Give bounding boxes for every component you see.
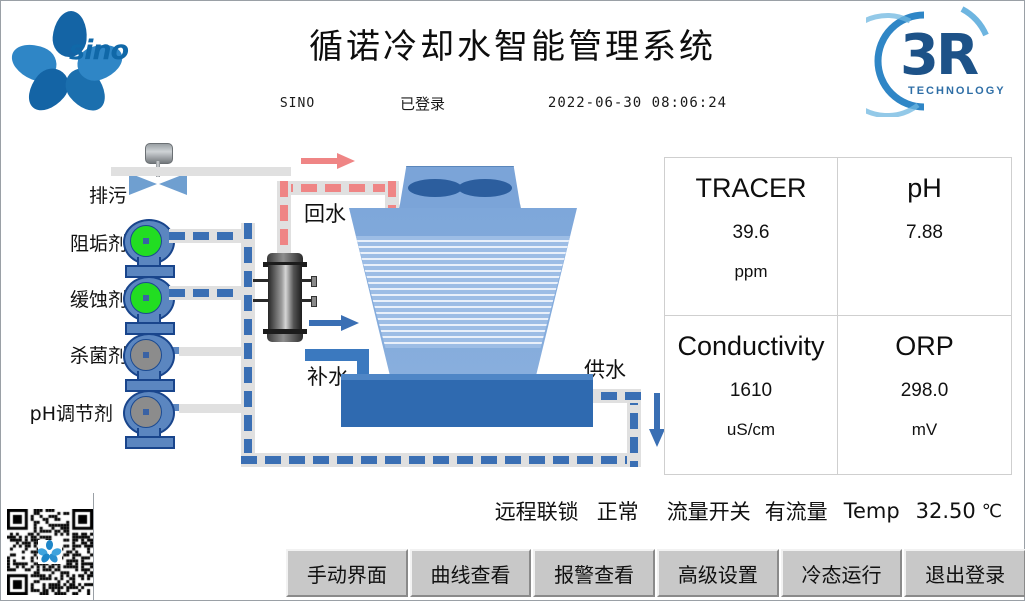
fan-blade [408, 179, 462, 197]
3r-technology-logo: 3R TECHNOLOGY [866, 5, 1016, 117]
measurement-value: 298.0 [901, 380, 949, 402]
qr-code-icon [7, 509, 93, 595]
fan-blade [458, 179, 512, 197]
button-manual-interface[interactable]: 手动界面 [286, 549, 408, 597]
hx-nozzle-left-upper [253, 279, 269, 282]
hx-foot [267, 334, 303, 342]
sino-logo: sino [9, 9, 159, 109]
pump-status-indicator [130, 396, 162, 428]
measurement-value: 1610 [730, 380, 772, 402]
divider [93, 493, 94, 601]
measurement-cell-orp[interactable]: ORP 298.0 mV [838, 316, 1011, 474]
dosing-pump-biocide[interactable] [123, 333, 181, 389]
pump-status-indicator [130, 282, 162, 314]
temp-unit: ℃ [982, 501, 1002, 522]
pump-base [125, 436, 175, 449]
dosing-pump-ph-adjuster[interactable] [123, 390, 181, 446]
measurement-cell-tracer[interactable]: TRACER 39.6 ppm [665, 158, 838, 316]
remote-interlock-label: 远程联锁 [495, 496, 579, 526]
ph-feed-pipe [179, 404, 241, 413]
hx-flange-upper [311, 276, 317, 287]
measurement-cell-conductivity[interactable]: Conductivity 1610 uS/cm [665, 316, 838, 474]
pump-status-indicator [130, 339, 162, 371]
valve-body-left [129, 173, 157, 195]
login-status: 已登录 [358, 93, 488, 114]
3r-wordmark: 3R [900, 23, 976, 88]
hmi-screen: 循诺冷却水智能管理系统 SINO 已登录 2022-06-30 08:06:24… [0, 0, 1025, 601]
biocide-feed-pipe [179, 347, 241, 356]
sidebar-item-label-antiscalant: 阻垢剂 [7, 229, 127, 256]
remote-interlock-value: 正常 [597, 496, 639, 526]
measurement-name: Conductivity [677, 330, 824, 364]
supply-water-pipe-left [241, 223, 255, 465]
cooling-tower-fan-icon [399, 166, 521, 210]
antiscalant-feed-pipe [169, 229, 249, 243]
current-user: SINO [238, 96, 358, 111]
button-logout[interactable]: 退出登录 [904, 549, 1025, 597]
cooling-tower [341, 166, 621, 421]
flow-switch-value: 有流量 [765, 496, 828, 526]
3r-tagline: TECHNOLOGY [908, 85, 1006, 97]
supply-water-pipe-bottom [241, 453, 641, 467]
blowdown-pipe [111, 167, 291, 176]
measurement-value: 7.88 [906, 222, 943, 244]
hx-cap [267, 253, 303, 262]
measurement-unit: mV [912, 420, 938, 440]
measurement-panel: TRACER 39.6 ppm pH 7.88 Conductivity 161… [664, 157, 1012, 475]
pump-status-indicator [130, 225, 162, 257]
button-trend-view[interactable]: 曲线查看 [410, 549, 532, 597]
button-advanced-settings[interactable]: 高级设置 [657, 549, 779, 597]
hx-body [268, 265, 302, 329]
tower-basin [341, 374, 593, 427]
valve-body-right [159, 173, 187, 195]
return-water-pipe-left [277, 181, 291, 263]
measurement-unit: ppm [734, 262, 767, 282]
datetime-display: 2022-06-30 08:06:24 [488, 95, 788, 111]
sidebar-item-label-biocide: 杀菌剂 [7, 341, 127, 368]
measurement-cell-ph[interactable]: pH 7.88 [838, 158, 1011, 316]
temp-label: Temp [844, 499, 900, 523]
heat-exchanger-icon[interactable] [263, 253, 307, 343]
sidebar-item-label-inhibitor: 缓蚀剂 [7, 285, 127, 312]
inhibitor-feed-pipe [169, 286, 249, 300]
button-cold-start-run[interactable]: 冷态运行 [781, 549, 903, 597]
measurement-unit: uS/cm [727, 420, 775, 440]
hx-nozzle-left-lower [253, 299, 269, 302]
status-bar: 远程联锁 正常 流量开关 有流量 Temp 32.50 ℃ [1, 493, 1024, 529]
flow-switch-label: 流量开关 [667, 496, 751, 526]
sino-wordmark: sino [69, 35, 128, 66]
measurement-name: pH [907, 172, 942, 206]
measurement-name: ORP [895, 330, 954, 364]
sidebar-item-label-blowdown: 排污 [7, 181, 127, 208]
dosing-pump-inhibitor[interactable] [123, 276, 181, 332]
sidebar-item-label-ph-adjuster: pH调节剂 [0, 399, 113, 426]
button-bar: 手动界面 曲线查看 报警查看 高级设置 冷态运行 退出登录 [286, 549, 1025, 597]
measurement-name: TRACER [695, 172, 806, 206]
temp-value: 32.50 [916, 499, 976, 523]
tower-fill-media [349, 236, 577, 348]
hx-flange-lower [311, 296, 317, 307]
dosing-pump-antiscalant[interactable] [123, 219, 181, 275]
qr-center-logo [38, 540, 62, 564]
button-alarm-view[interactable]: 报警查看 [533, 549, 655, 597]
measurement-value: 39.6 [733, 222, 770, 244]
